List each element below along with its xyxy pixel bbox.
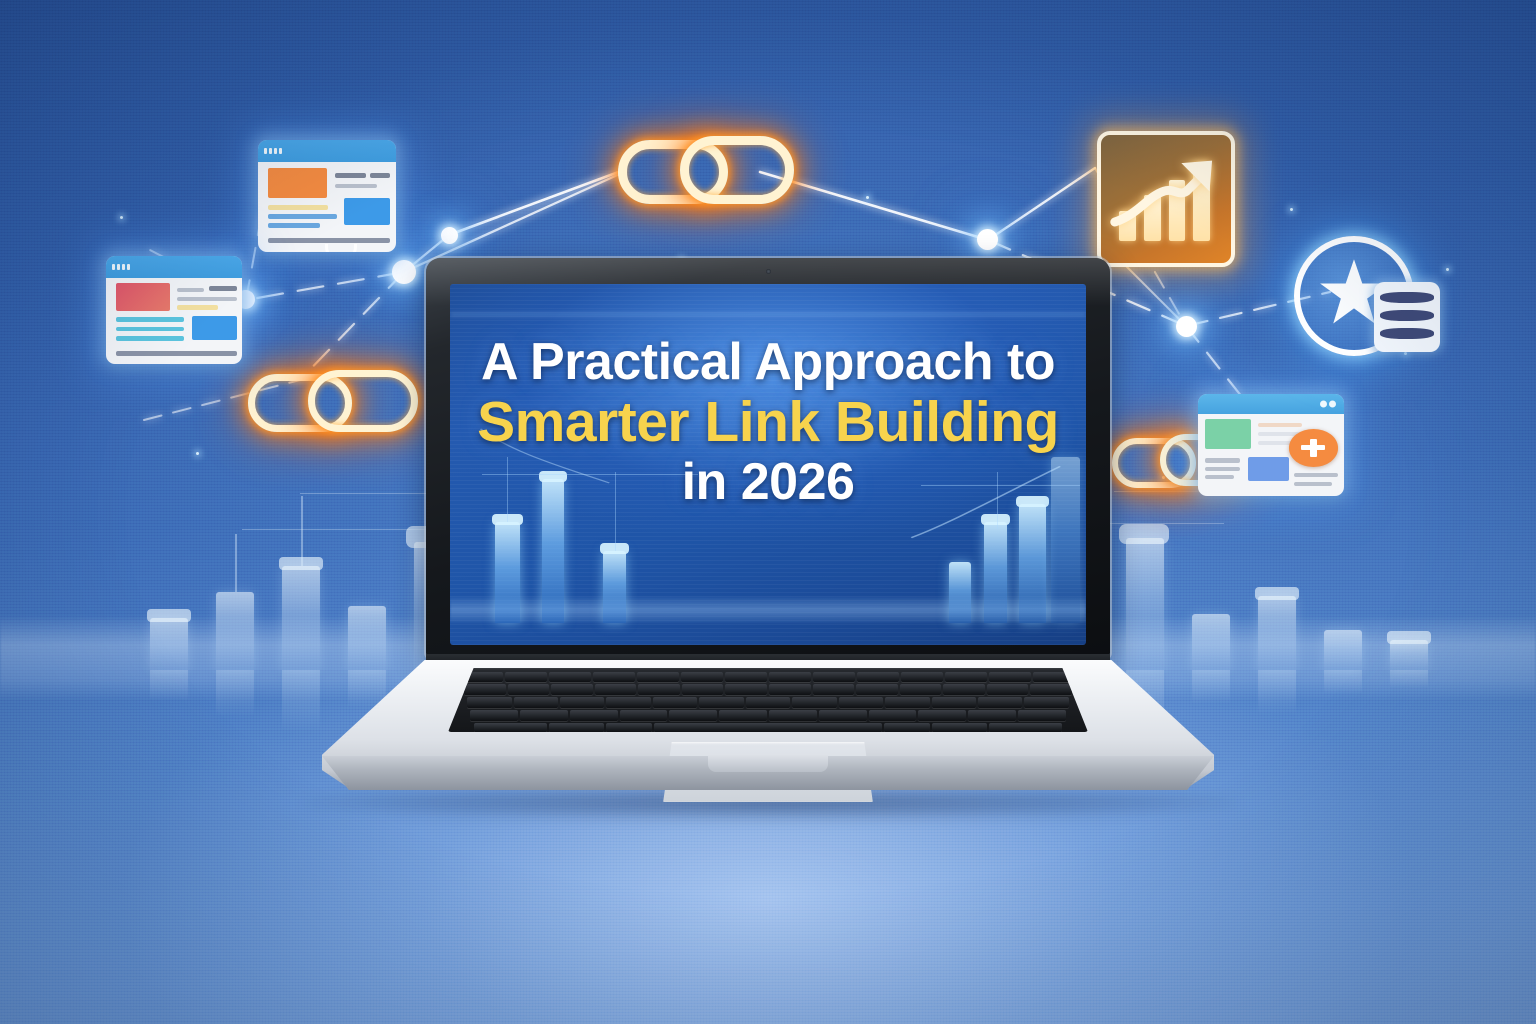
background-vignette — [0, 0, 1536, 1024]
poster-canvas: A Practical Approach to Smarter Link Bui… — [0, 0, 1536, 1024]
